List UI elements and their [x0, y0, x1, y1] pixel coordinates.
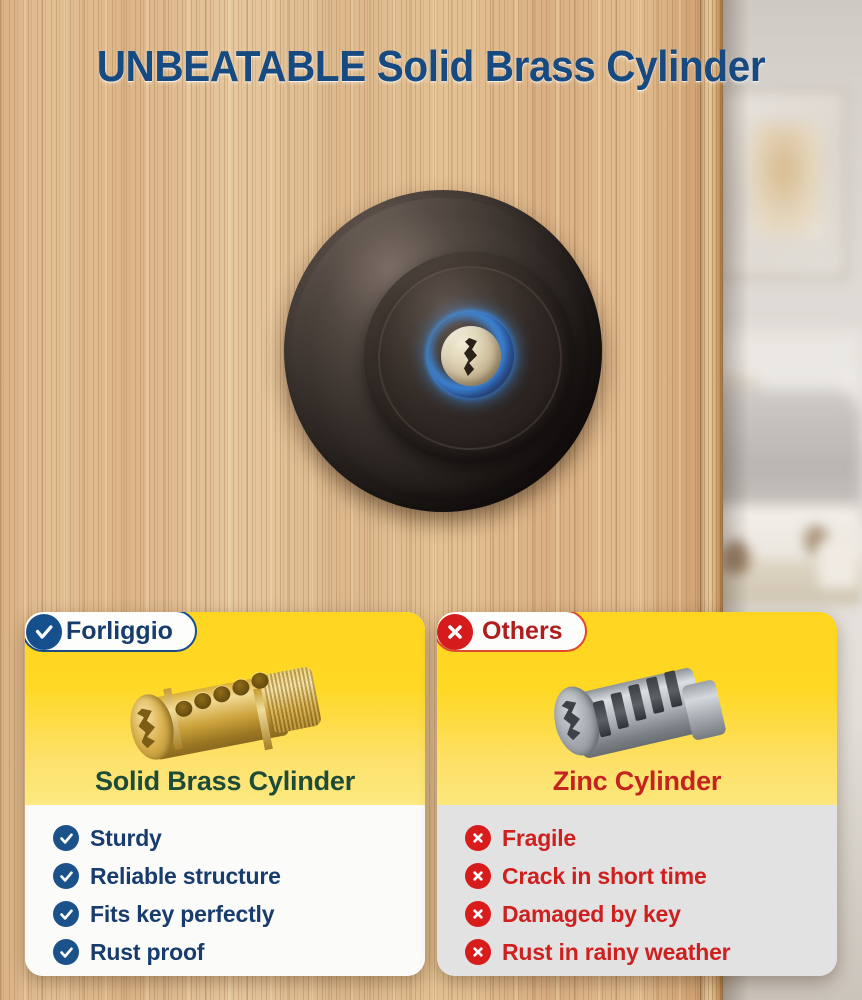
pin-slot	[664, 670, 683, 708]
pin-slot	[646, 676, 665, 714]
product-image-brass-cylinder	[25, 652, 425, 764]
x-circle-icon	[465, 901, 491, 927]
comparison-panel-forliggio: Forliggio	[25, 612, 425, 976]
decor-object-right	[818, 540, 858, 588]
list-item-label: Rust proof	[90, 939, 204, 966]
list-item-label: Fits key perfectly	[90, 901, 274, 928]
pin-hole	[212, 685, 232, 704]
x-circle-icon	[465, 939, 491, 965]
list-item-label: Fragile	[502, 825, 576, 852]
list-item: Reliable structure	[53, 857, 425, 895]
list-item-label: Damaged by key	[502, 901, 681, 928]
feature-list-right: Fragile Crack in short time Damaged by k…	[437, 805, 837, 976]
product-image-zinc-cylinder	[437, 652, 837, 764]
check-circle-icon	[26, 614, 62, 650]
product-label-left: Solid Brass Cylinder	[25, 766, 425, 797]
pin-hole	[231, 678, 251, 697]
page-title-text: UNBEATABLE Solid Brass Cylinder	[97, 42, 766, 91]
pin-hole	[250, 671, 270, 690]
list-item: Crack in short time	[465, 857, 837, 895]
check-circle-icon	[53, 901, 79, 927]
product-marketing-image: UNBEATABLE Solid Brass Cylinder Forliggi…	[0, 0, 862, 1000]
check-circle-icon	[53, 863, 79, 889]
list-item: Rust proof	[53, 933, 425, 971]
page-title: UNBEATABLE Solid Brass Cylinder	[34, 42, 827, 92]
check-circle-icon	[53, 939, 79, 965]
product-label-right: Zinc Cylinder	[437, 766, 837, 797]
x-circle-icon	[465, 825, 491, 851]
check-circle-icon	[53, 825, 79, 851]
brand-badge-label: Others	[482, 617, 563, 646]
brand-badge-label: Forliggio	[66, 617, 173, 646]
brass-cylinder-graphic	[117, 660, 333, 764]
x-circle-icon	[465, 863, 491, 889]
x-circle-icon	[437, 614, 473, 650]
deadbolt-lock	[278, 186, 608, 534]
feature-list-left: Sturdy Reliable structure Fits key perfe…	[25, 805, 425, 976]
picture-art	[751, 123, 823, 238]
zinc-cylinder-graphic	[537, 658, 747, 764]
pin-hole	[193, 692, 213, 711]
brand-badge-forliggio: Forliggio	[25, 612, 197, 652]
list-item-label: Sturdy	[90, 825, 162, 852]
comparison-panel-others: Others Zinc Cylinder	[437, 612, 837, 976]
list-item: Fits key perfectly	[53, 895, 425, 933]
list-item-label: Reliable structure	[90, 863, 281, 890]
list-item-label: Rust in rainy weather	[502, 939, 730, 966]
pin-slot	[628, 684, 647, 722]
list-item: Rust in rainy weather	[465, 933, 837, 971]
brand-badge-others: Others	[437, 612, 587, 652]
list-item: Fragile	[465, 819, 837, 857]
pin-slot	[610, 692, 629, 730]
list-item: Sturdy	[53, 819, 425, 857]
panel-header-right: Others Zinc Cylinder	[437, 612, 837, 805]
list-item-label: Crack in short time	[502, 863, 707, 890]
list-item: Damaged by key	[465, 895, 837, 933]
panel-header-left: Forliggio	[25, 612, 425, 805]
